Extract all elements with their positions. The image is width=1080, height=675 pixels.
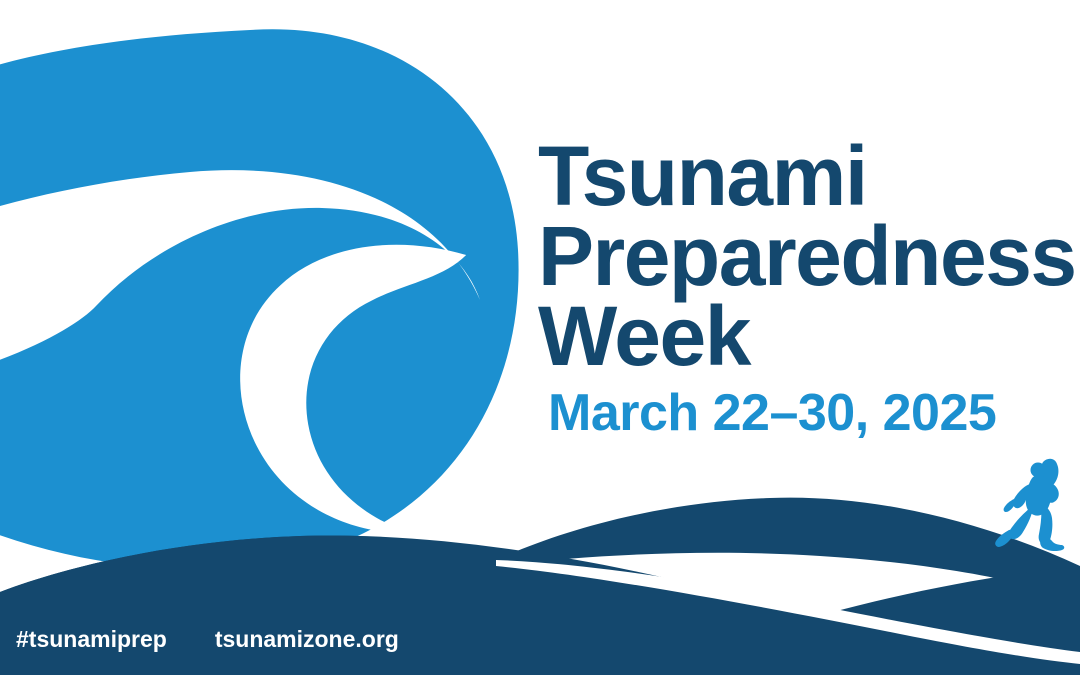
poster-artwork bbox=[0, 0, 1080, 675]
poster-canvas: Tsunami Preparedness Week March 22–30, 2… bbox=[0, 0, 1080, 675]
